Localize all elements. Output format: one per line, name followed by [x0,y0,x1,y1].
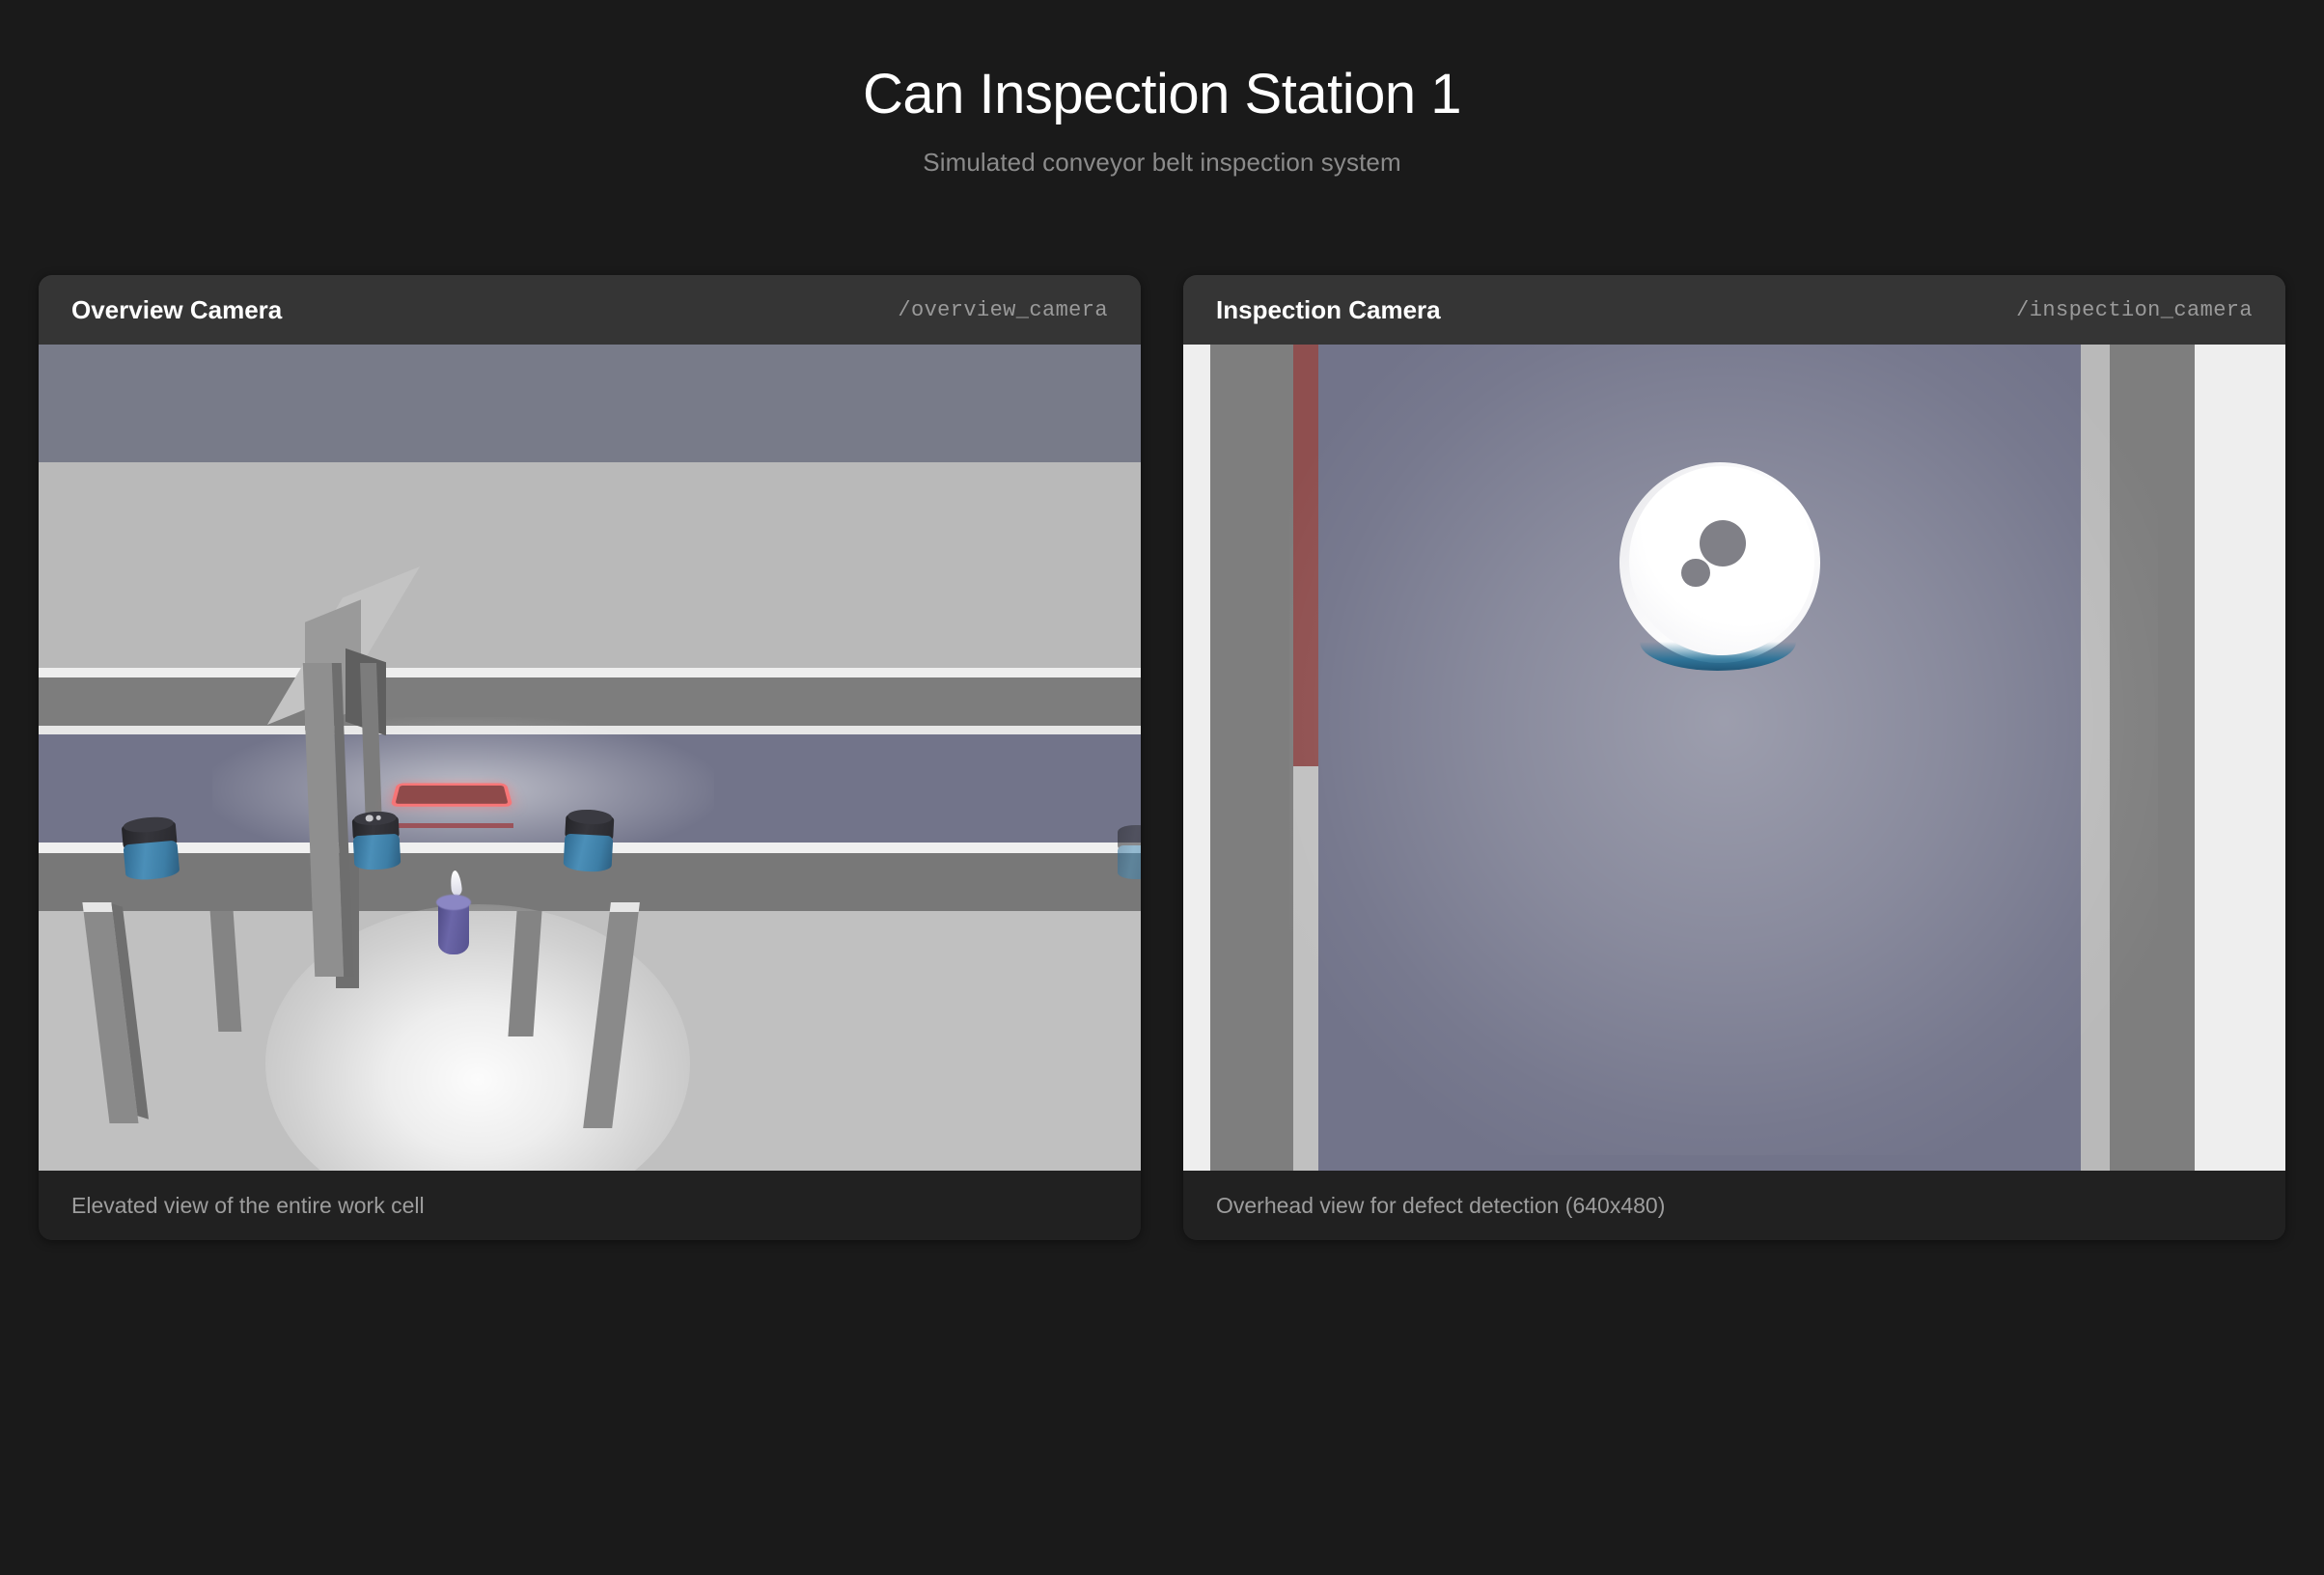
can-2 [352,813,401,870]
can-3 [563,811,614,873]
panel-header-inspection: Inspection Camera /inspection_camera [1183,275,2285,345]
floor-strip-left [1183,345,1210,1171]
panel-overview-camera[interactable]: Overview Camera /overview_camera [39,275,1141,1240]
page-title: Can Inspection Station 1 [0,64,2324,126]
inspection-scene [1183,345,2285,1171]
reject-tray [395,786,508,804]
conveyor-rail-left [1210,345,1293,1171]
conveyor-rail-right-inner [2081,345,2110,1171]
app-root: Can Inspection Station 1 Simulated conve… [0,0,2324,1575]
panel-caption-overview: Elevated view of the entire work cell [71,1193,425,1219]
conveyor-far-rail-highlight [39,668,1141,677]
page-subtitle: Simulated conveyor belt inspection syste… [0,148,2324,178]
can-1 [121,817,180,882]
conveyor-far-edge [39,726,1141,734]
can-4-partial [1118,825,1141,879]
camera-panel-grid: Overview Camera /overview_camera [39,275,2285,1240]
floor-strip-right [2195,345,2285,1171]
scene-sky-band [39,345,1141,462]
panel-footer-overview: Elevated view of the entire work cell [39,1171,1141,1240]
panel-topic-inspection: /inspection_camera [2016,298,2253,322]
can-2-defect-large [366,815,373,821]
defect-spot-large [1700,520,1746,566]
red-marker-bar [1293,345,1318,766]
panel-header-overview: Overview Camera /overview_camera [39,275,1141,345]
scene-back-wall [39,462,1141,673]
conveyor-far-frame [39,677,1141,726]
can-under-inspection [1619,462,1820,663]
defect-spot-small [1681,559,1709,587]
overview-scene [39,345,1141,1171]
panel-topic-overview: /overview_camera [898,298,1108,322]
camera-feed-overview[interactable] [39,345,1141,1171]
guide-bar-lower [1293,766,1318,1171]
panel-footer-inspection: Overhead view for defect detection (640x… [1183,1171,2285,1240]
can-2-defect-small [376,815,381,820]
camera-feed-inspection[interactable] [1183,345,2285,1171]
conveyor-rail-right-outer [2110,345,2195,1171]
purple-bottle [438,881,469,954]
panel-inspection-camera[interactable]: Inspection Camera /inspection_camera [1183,275,2285,1240]
panel-caption-inspection: Overhead view for defect detection (640x… [1216,1193,1665,1219]
panel-title-overview: Overview Camera [71,295,282,325]
page-header: Can Inspection Station 1 Simulated conve… [0,0,2324,178]
panel-title-inspection: Inspection Camera [1216,295,1441,325]
